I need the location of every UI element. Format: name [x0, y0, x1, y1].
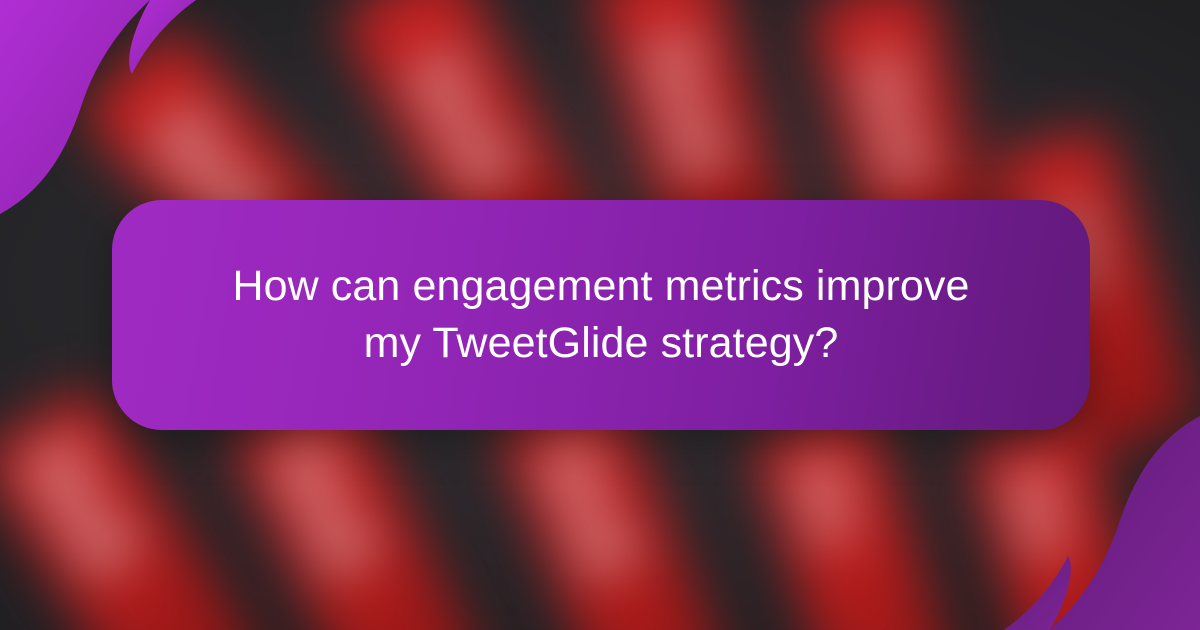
red-tile-10 — [972, 420, 1158, 630]
question-card[interactable]: How can engagement metrics improve my Tw… — [112, 200, 1090, 430]
question-text: How can engagement metrics improve my Tw… — [221, 258, 981, 372]
question-line-2: my TweetGlide strategy? — [221, 315, 981, 372]
question-line-1: How can engagement metrics improve — [221, 258, 981, 315]
red-tile-9 — [756, 410, 955, 630]
social-share-card: How can engagement metrics improve my Tw… — [0, 0, 1200, 630]
